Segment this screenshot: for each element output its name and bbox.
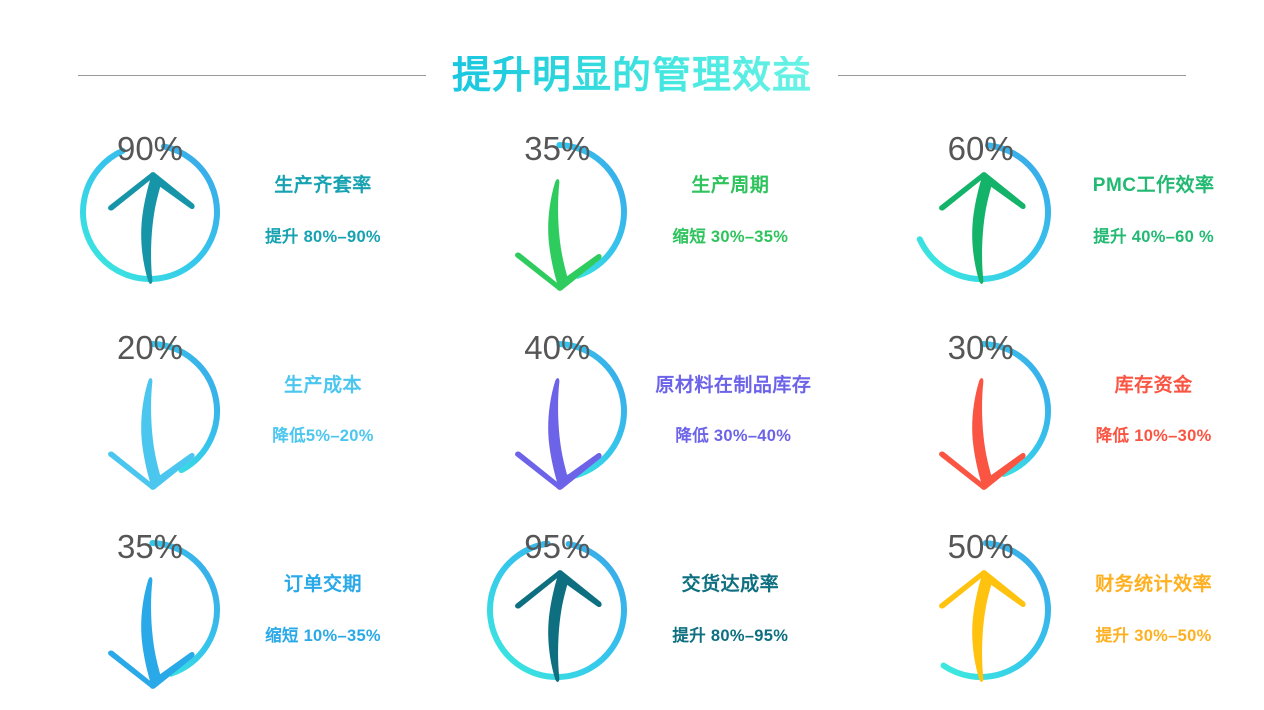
header-rule-right: [838, 75, 1186, 76]
metric-cell: 60%PMC工作效率提升 40%–60 %: [843, 112, 1264, 311]
metric-subtitle: 降低 10%–30%: [1096, 427, 1212, 447]
metric-title: 交货达成率: [682, 574, 780, 597]
metric-text-block: 订单交期缩短 10%–35%: [248, 574, 398, 647]
arrow-up-icon: [477, 569, 637, 690]
gauge-percent-value: 30%: [948, 331, 1014, 364]
arrow-up-icon: [901, 569, 1061, 690]
gauge-percent-value: 90%: [117, 132, 183, 165]
arrow-down-icon: [477, 171, 637, 292]
gauge-center: 50%: [901, 530, 1061, 690]
gauge-center: 95%: [477, 530, 637, 690]
metric-title: 库存资金: [1115, 375, 1193, 398]
gauge-ring: 35%: [477, 132, 637, 292]
metric-text-block: PMC工作效率提升 40%–60 %: [1079, 175, 1229, 248]
gauge-center: 35%: [477, 132, 637, 292]
metric-cell: 90%生产齐套率提升 80%–90%: [0, 112, 421, 311]
gauge-percent-value: 50%: [948, 530, 1014, 563]
gauge-center: 20%: [70, 331, 230, 491]
gauge-ring: 30%: [901, 331, 1061, 491]
gauge-ring: 95%: [477, 530, 637, 690]
gauge-ring: 35%: [70, 530, 230, 690]
gauge-center: 30%: [901, 331, 1061, 491]
metric-subtitle: 降低5%–20%: [272, 427, 373, 447]
metric-text-block: 原材料在制品库存降低 30%–40%: [655, 375, 811, 448]
gauge-percent-value: 20%: [117, 331, 183, 364]
metric-cell: 20%生产成本降低5%–20%: [0, 311, 421, 510]
arrow-down-icon: [901, 370, 1061, 491]
arrow-up-icon: [70, 171, 230, 292]
metric-title: 生产成本: [284, 375, 362, 398]
metric-subtitle: 缩短 30%–35%: [672, 228, 788, 248]
metric-title: 订单交期: [284, 574, 362, 597]
metric-text-block: 生产周期缩短 30%–35%: [655, 175, 805, 248]
header-rule-left: [78, 75, 426, 76]
metric-text-block: 生产成本降低5%–20%: [248, 375, 398, 448]
metric-subtitle: 提升 30%–50%: [1096, 627, 1212, 647]
gauge-percent-value: 60%: [948, 132, 1014, 165]
page-header: 提升明显的管理效益: [0, 46, 1264, 104]
metric-title: 原材料在制品库存: [655, 375, 811, 398]
metric-subtitle: 提升 40%–60 %: [1093, 228, 1214, 248]
metric-text-block: 生产齐套率提升 80%–90%: [248, 175, 398, 248]
gauge-percent-value: 35%: [117, 530, 183, 563]
metric-subtitle: 缩短 10%–35%: [265, 627, 381, 647]
metric-subtitle: 提升 80%–95%: [672, 627, 788, 647]
page-title: 提升明显的管理效益: [452, 56, 812, 95]
metric-title: 生产齐套率: [274, 175, 372, 198]
gauge-ring: 60%: [901, 132, 1061, 292]
arrow-down-icon: [70, 370, 230, 491]
metric-text-block: 财务统计效率提升 30%–50%: [1079, 574, 1229, 647]
metrics-grid: 90%生产齐套率提升 80%–90%35%生产周期缩短 30%–35%60%PM…: [0, 112, 1264, 710]
metric-cell: 50%财务统计效率提升 30%–50%: [843, 511, 1264, 710]
metric-cell: 30%库存资金降低 10%–30%: [843, 311, 1264, 510]
gauge-center: 35%: [70, 530, 230, 690]
arrow-up-icon: [901, 171, 1061, 292]
gauge-ring: 50%: [901, 530, 1061, 690]
slide-root: 提升明显的管理效益 90%生产齐套率提升 80%–90%35%生产周期缩短 30…: [0, 0, 1264, 710]
metric-title: PMC工作效率: [1093, 175, 1215, 198]
gauge-center: 40%: [477, 331, 637, 491]
gauge-center: 90%: [70, 132, 230, 292]
metric-title: 财务统计效率: [1095, 574, 1212, 597]
metric-cell: 35%生产周期缩短 30%–35%: [421, 112, 842, 311]
metric-text-block: 库存资金降低 10%–30%: [1079, 375, 1229, 448]
gauge-ring: 20%: [70, 331, 230, 491]
gauge-percent-value: 40%: [524, 331, 590, 364]
metric-cell: 95%交货达成率提升 80%–95%: [421, 511, 842, 710]
gauge-percent-value: 95%: [524, 530, 590, 563]
metric-text-block: 交货达成率提升 80%–95%: [655, 574, 805, 647]
arrow-down-icon: [477, 370, 637, 491]
metric-subtitle: 降低 30%–40%: [675, 427, 791, 447]
metric-title: 生产周期: [691, 175, 769, 198]
gauge-center: 60%: [901, 132, 1061, 292]
gauge-ring: 40%: [477, 331, 637, 491]
metric-subtitle: 提升 80%–90%: [265, 228, 381, 248]
arrow-down-icon: [70, 569, 230, 690]
metric-cell: 40%原材料在制品库存降低 30%–40%: [421, 311, 842, 510]
gauge-percent-value: 35%: [524, 132, 590, 165]
gauge-ring: 90%: [70, 132, 230, 292]
metric-cell: 35%订单交期缩短 10%–35%: [0, 511, 421, 710]
